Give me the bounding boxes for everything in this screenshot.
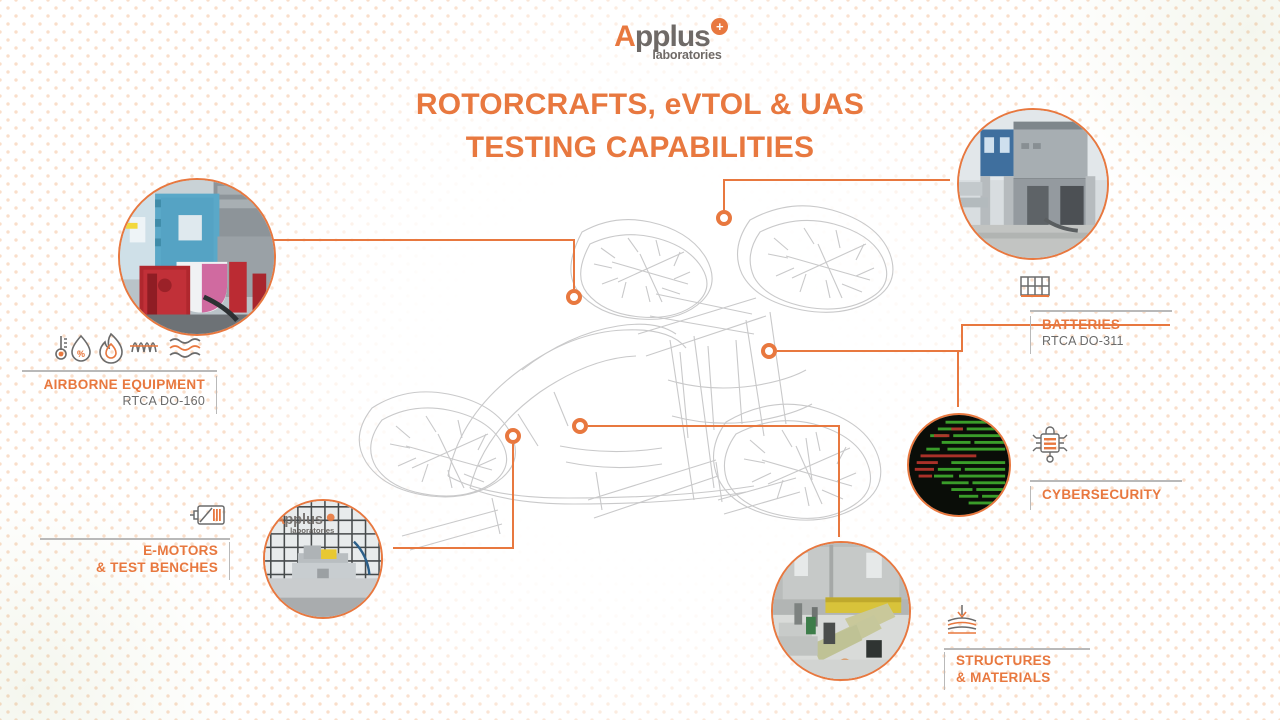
battery-test-facility-photo-content: [959, 110, 1107, 258]
logo-plus-icon: +: [711, 18, 728, 35]
applus-laboratories-logo: Applus+ laboratories: [596, 22, 746, 70]
vibration-lab-photo[interactable]: [118, 178, 276, 336]
code-terminal-photo-content: [909, 415, 1009, 515]
e-motors-rule: [40, 538, 230, 540]
structural-test-rig-photo-content: [773, 543, 909, 679]
structures-materials-title-line-1: STRUCTURES: [956, 652, 1104, 669]
battery-test-facility-photo[interactable]: [957, 108, 1109, 260]
batteries-label[interactable]: BATTERIES RTCA DO-311: [1030, 316, 1180, 354]
svg-text:laboratories: laboratories: [290, 526, 334, 535]
structures-materials-title-line-2: & MATERIALS: [956, 669, 1104, 686]
batteries-title: BATTERIES: [1042, 316, 1180, 333]
evtol-wireframe-diagram: [350, 170, 920, 590]
e-motors-label[interactable]: E-MOTORS & TEST BENCHES: [40, 542, 230, 580]
structures-materials-rule: [944, 648, 1090, 650]
cybersecurity-label[interactable]: CYBERSECURITY: [1030, 486, 1190, 510]
cybersecurity-rule: [1030, 480, 1182, 482]
svg-text:%: %: [77, 349, 85, 359]
emc-chamber-photo-content: A pplus laboratories: [265, 501, 381, 617]
batteries-icons: [1019, 274, 1053, 300]
e-motors-title-line-1: E-MOTORS: [40, 542, 218, 559]
cybersecurity-title: CYBERSECURITY: [1042, 486, 1190, 503]
batteries-subtitle: RTCA DO-311: [1042, 333, 1180, 349]
batteries-rule: [1030, 310, 1172, 312]
airborne-equipment-rule: [22, 370, 217, 372]
airborne-equipment-title: AIRBORNE EQUIPMENT: [22, 376, 205, 393]
logo-letter-a: A: [614, 20, 635, 53]
structures-materials-icons: [944, 604, 980, 636]
code-terminal-photo[interactable]: [907, 413, 1011, 517]
logo-word-rest: pplus: [635, 20, 710, 53]
airborne-equipment-label[interactable]: AIRBORNE EQUIPMENT RTCA DO-160: [22, 376, 217, 414]
logo-wordmark: Applus+: [614, 22, 728, 52]
e-motors-title-line-2: & TEST BENCHES: [40, 559, 218, 576]
structures-materials-label[interactable]: STRUCTURES & MATERIALS: [944, 652, 1104, 690]
structural-test-rig-photo[interactable]: [771, 541, 911, 681]
cybersecurity-icons: [1030, 424, 1070, 464]
airborne-equipment-subtitle: RTCA DO-160: [22, 393, 205, 409]
e-motors-icons: [188, 502, 228, 530]
emc-chamber-photo[interactable]: A pplus laboratories: [263, 499, 383, 619]
airborne-equipment-icons: %: [50, 330, 210, 364]
vibration-lab-photo-content: [120, 180, 274, 334]
